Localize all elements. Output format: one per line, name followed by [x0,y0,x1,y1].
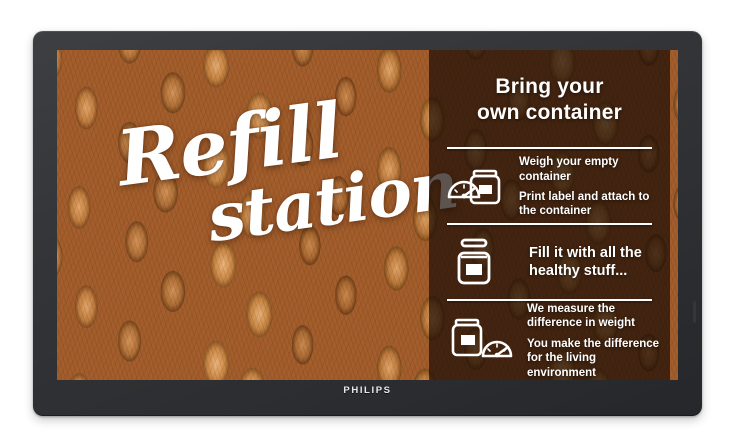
instruction-panel: Bring your own container [429,50,670,380]
step-row-1: Weigh your empty container Print label a… [443,154,660,220]
screenshot-stage: Refill station Bring your own container [0,0,735,444]
panel-title-line-2: own container [429,100,670,126]
step-row-2: Fill it with all the healthy stuff... [443,230,660,296]
jar-open-lid-icon [443,238,519,288]
divider-1 [447,147,652,149]
divider-2 [447,223,652,225]
step-1-line-2: Print label and attach to the container [519,190,660,219]
step-1-texts: Weigh your empty container Print label a… [519,155,660,219]
scale-and-jar-icon [443,165,509,209]
step-row-3: We measure the difference in weight You … [443,306,660,376]
display-screen: Refill station Bring your own container [57,50,678,380]
panel-title-line-1: Bring your [429,74,670,100]
step-3-texts: We measure the difference in weight You … [527,302,660,380]
divider-3 [447,299,652,301]
jar-and-gauge-icon [443,317,517,365]
panel-title: Bring your own container [429,74,670,125]
step-1-line-1: Weigh your empty container [519,155,660,184]
philips-logo: PHILIPS [33,385,702,396]
philips-display-monitor: Refill station Bring your own container [33,31,702,416]
step-2-line-1: Fill it with all the healthy stuff... [529,245,660,280]
step-3-line-1: We measure the difference in weight [527,302,660,331]
step-2-texts: Fill it with all the healthy stuff... [529,245,660,280]
step-3-line-2: You make the difference for the living e… [527,337,660,380]
